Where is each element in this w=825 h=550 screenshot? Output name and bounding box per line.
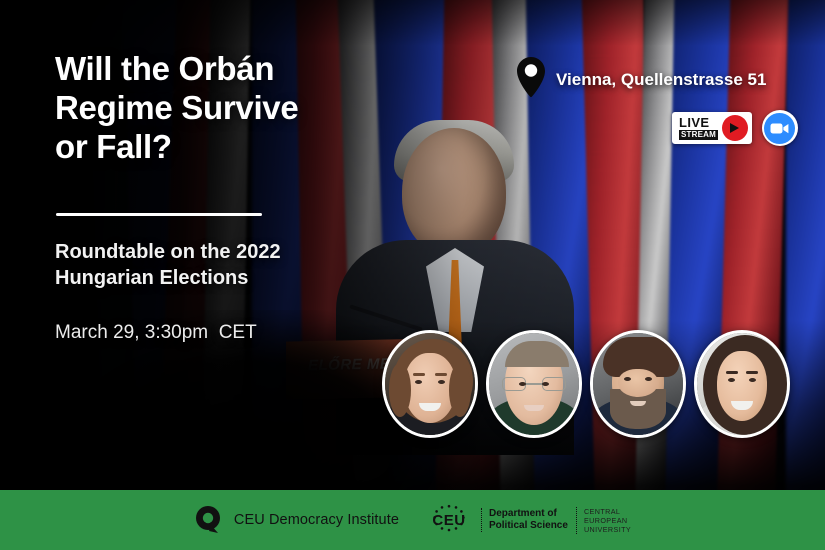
event-poster: ELŐRE MEN Will the Orbán Regime Survive … [0, 0, 825, 550]
avatar [486, 330, 582, 438]
avatar [382, 330, 478, 438]
ceu-full-line2: EUROPEAN [584, 516, 631, 525]
live-stream-wordmark: LIVE STREAM [676, 114, 721, 142]
play-icon[interactable] [722, 115, 748, 141]
speaker-portraits [382, 330, 790, 438]
stream-label: STREAM [679, 130, 718, 140]
zoom-badge[interactable] [762, 110, 798, 146]
page-title: Will the Orbán Regime Survive or Fall? [55, 50, 395, 167]
live-stream-badge[interactable]: LIVE STREAM [672, 112, 752, 144]
ceu-q-logo-icon [194, 505, 224, 535]
video-camera-icon [764, 113, 795, 144]
ceu-full-name: CENTRAL EUROPEAN UNIVERSITY [576, 507, 631, 534]
stream-badges: LIVE STREAM [672, 110, 798, 146]
ceu-full-line1: CENTRAL [584, 507, 631, 516]
location-block: Vienna, Quellenstrasse 51 [515, 56, 766, 103]
map-pin-icon [515, 56, 547, 103]
ceu-full-line3: UNIVERSITY [584, 525, 631, 534]
ceu-democracy-institute-label: CEU Democracy Institute [234, 512, 399, 528]
event-subtitle: Roundtable on the 2022 Hungarian Electio… [55, 240, 385, 291]
location-label: Vienna, Quellenstrasse 51 [556, 70, 766, 90]
footer-logos: CEU Democracy Institute CEU Depar [0, 490, 825, 550]
ceu-department-line2: Political Science [489, 520, 568, 532]
ceu-department-label: Department of Political Science [481, 508, 568, 532]
ceu-department-line1: Department of [489, 508, 568, 520]
live-label: LIVE [679, 116, 718, 129]
avatar [694, 330, 790, 438]
ceu-democracy-institute-logo: CEU Democracy Institute [194, 505, 399, 535]
ceu-acronym: CEU [432, 512, 465, 529]
ceu-university-logo: CEU Department of Political Science CENT… [425, 503, 631, 537]
title-divider [56, 213, 262, 216]
avatar [590, 330, 686, 438]
ceu-stars-logo-icon: CEU [425, 503, 473, 537]
event-datetime: March 29, 3:30pm CET [55, 322, 257, 344]
